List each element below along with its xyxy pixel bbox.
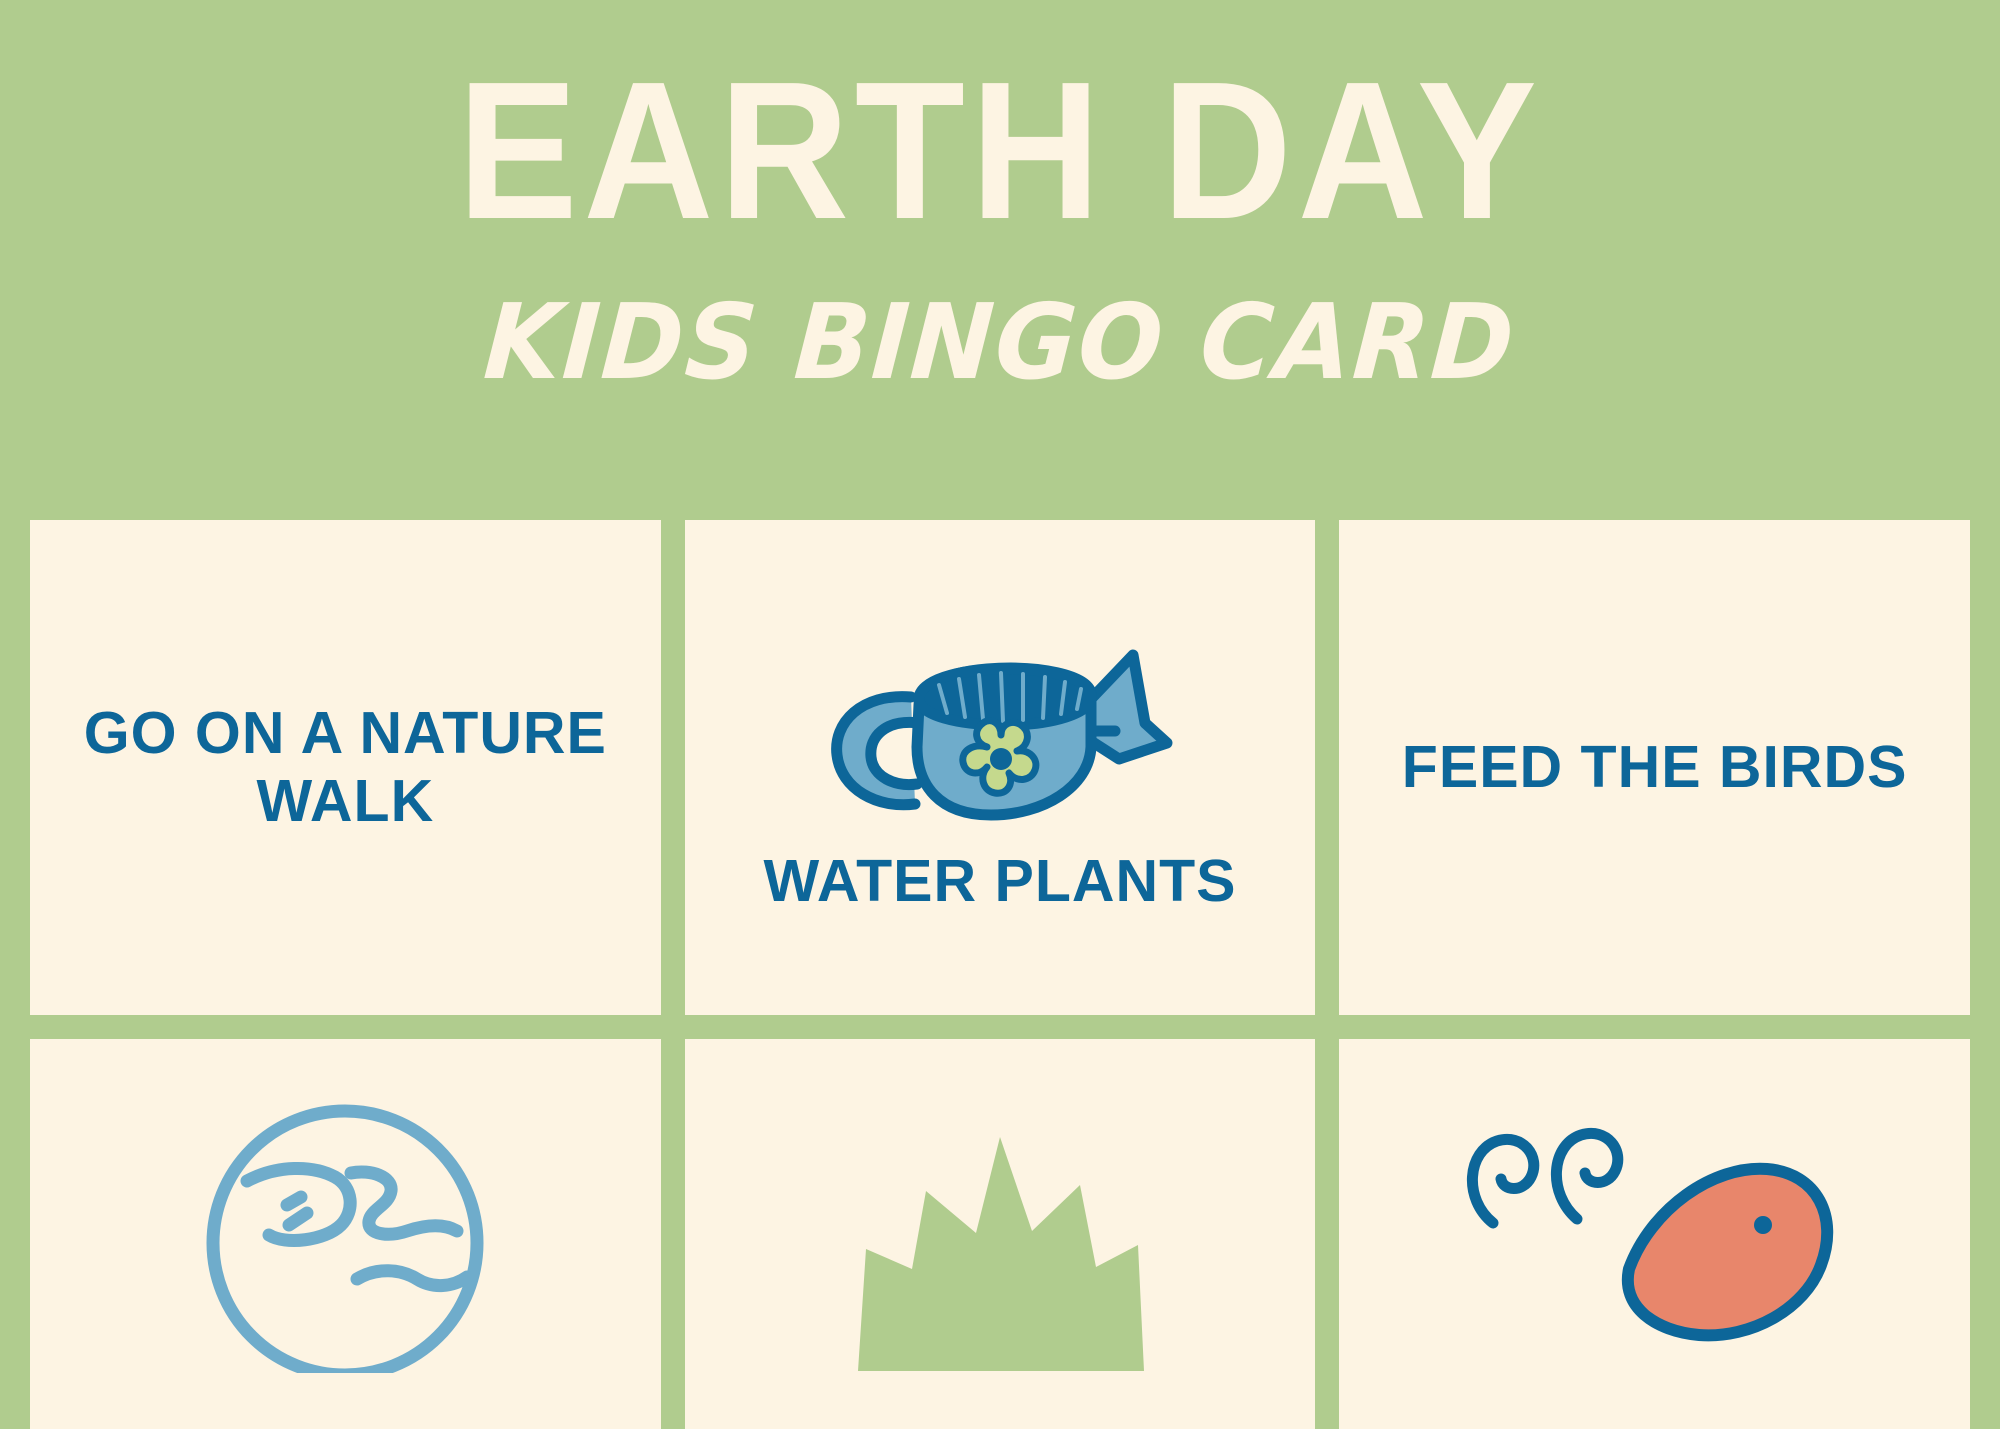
bingo-cell-feed-the-birds[interactable]: FEED THE BIRDS <box>1339 520 1970 1015</box>
watering-can-icon <box>815 619 1185 834</box>
bingo-cell-water-plants[interactable]: WATER PLANTS <box>685 520 1316 1015</box>
plant-leaves-icon <box>830 1073 1170 1373</box>
bingo-cell-bird[interactable] <box>1339 1039 1970 1429</box>
bingo-cell-earth-globe[interactable] <box>30 1039 661 1429</box>
page-subtitle: KIDS BINGO CARD <box>47 290 1954 394</box>
bingo-cell-label: GO ON A NATURE WALK <box>56 700 635 835</box>
earth-globe-icon <box>185 1073 505 1373</box>
poster-header: EARTH DAY KIDS BINGO CARD <box>0 0 2000 394</box>
earth-day-bingo-poster: EARTH DAY KIDS BINGO CARD GO ON A NATURE… <box>0 0 2000 1429</box>
bingo-grid: GO ON A NATURE WALK <box>30 520 1970 1429</box>
bingo-cell-label: FEED THE BIRDS <box>1402 734 1908 801</box>
bingo-cell-label: WATER PLANTS <box>763 848 1236 915</box>
bird-icon <box>1445 1073 1865 1373</box>
page-title: EARTH DAY <box>80 58 1920 244</box>
bingo-cell-go-on-a-nature-walk[interactable]: GO ON A NATURE WALK <box>30 520 661 1015</box>
bingo-cell-plant-leaves[interactable] <box>685 1039 1316 1429</box>
